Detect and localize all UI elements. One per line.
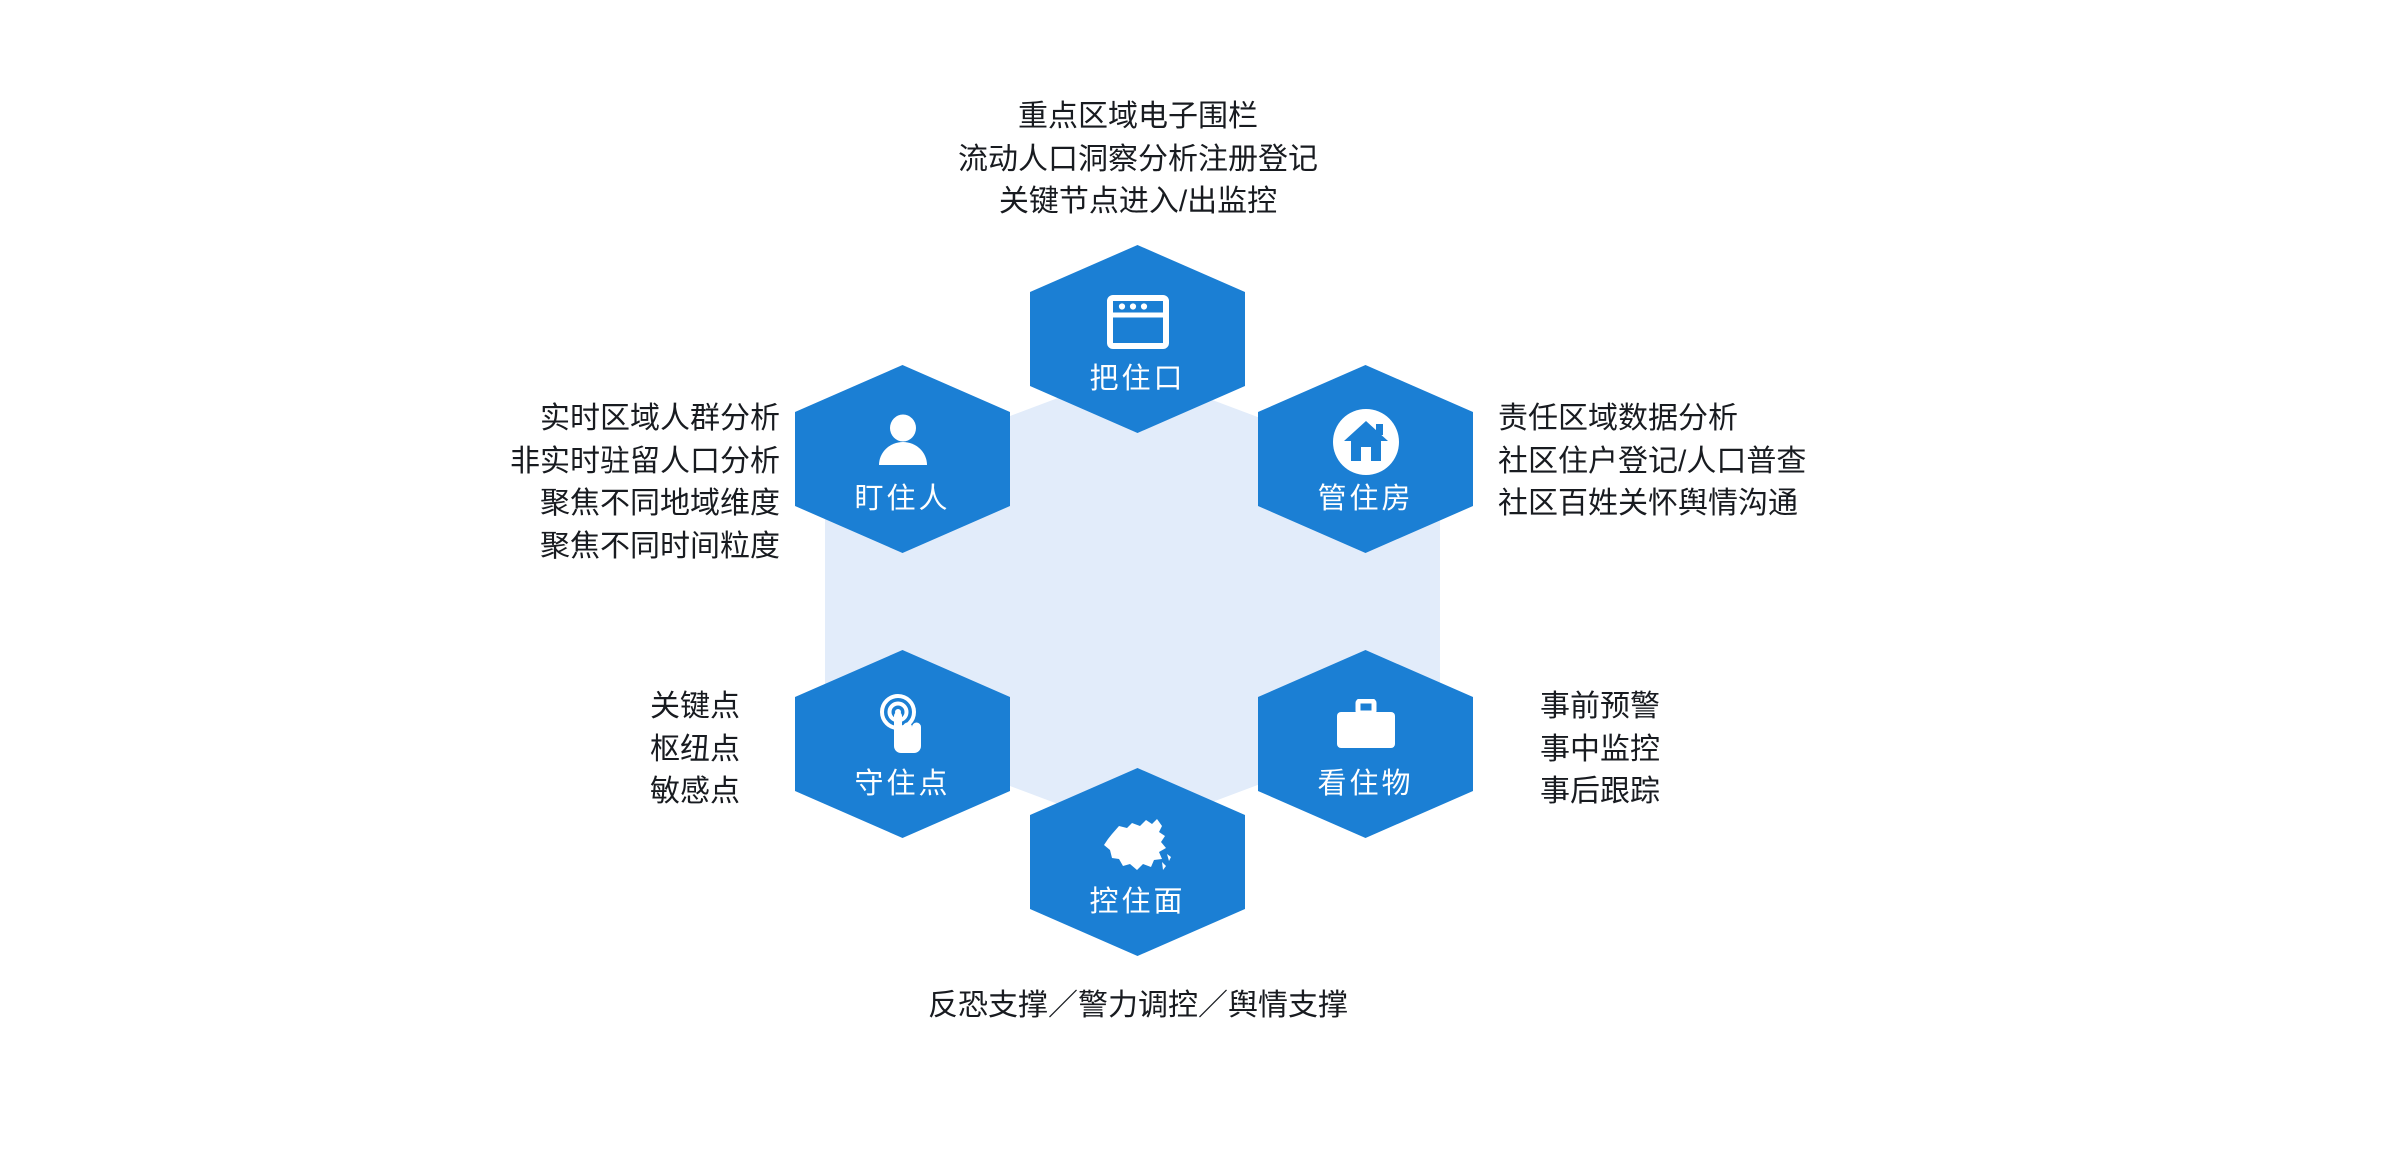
browser-window-icon — [1106, 285, 1170, 359]
hex-node-bottom-label: 控住面 — [1089, 888, 1185, 917]
annotation-left-lower-line-2: 枢纽点 — [440, 729, 740, 772]
person-icon — [874, 405, 932, 479]
annotation-right-lower-line-3: 事后跟踪 — [1540, 771, 1840, 814]
hex-node-top-label: 把住口 — [1089, 365, 1185, 394]
annotation-top-line-2: 流动人口洞察分析注册登记 — [838, 139, 1438, 182]
touch-hand-icon — [872, 690, 934, 764]
annotation-left-upper-line-1: 实时区域人群分析 — [300, 398, 780, 441]
diagram-canvas: 把住口 盯住人 管住房 — [0, 0, 2400, 1172]
annotation-top-line-1: 重点区域电子围栏 — [838, 96, 1438, 139]
annotation-right-upper-line-3: 社区百姓关怀舆情沟通 — [1498, 483, 2058, 526]
annotation-right-upper-line-2: 社区住户登记/人口普查 — [1498, 441, 2058, 484]
annotation-right-upper-line-1: 责任区域数据分析 — [1498, 398, 2058, 441]
annotation-bottom-line-1: 反恐支撑／警力调控／舆情支撑 — [838, 985, 1438, 1028]
annotation-left-upper-line-3: 聚焦不同地域维度 — [300, 483, 780, 526]
annotation-right-lower: 事前预警 事中监控 事后跟踪 — [1540, 686, 1840, 814]
hex-node-lower-right-label: 看住物 — [1317, 770, 1413, 799]
annotation-left-upper: 实时区域人群分析 非实时驻留人口分析 聚焦不同地域维度 聚焦不同时间粒度 — [300, 398, 780, 568]
house-circle-icon — [1331, 405, 1401, 479]
annotation-left-upper-line-4: 聚焦不同时间粒度 — [300, 526, 780, 569]
annotation-right-lower-line-1: 事前预警 — [1540, 686, 1840, 729]
annotation-top-line-3: 关键节点进入/出监控 — [838, 181, 1438, 224]
annotation-right-lower-line-2: 事中监控 — [1540, 729, 1840, 772]
hex-node-lower-left-label: 守住点 — [854, 770, 950, 799]
annotation-left-upper-line-2: 非实时驻留人口分析 — [300, 441, 780, 484]
briefcase-icon — [1333, 690, 1399, 764]
annotation-left-lower-line-1: 关键点 — [440, 686, 740, 729]
annotation-right-upper: 责任区域数据分析 社区住户登记/人口普查 社区百姓关怀舆情沟通 — [1498, 398, 2058, 526]
hex-node-upper-right-label: 管住房 — [1317, 485, 1413, 514]
annotation-top: 重点区域电子围栏 流动人口洞察分析注册登记 关键节点进入/出监控 — [838, 96, 1438, 224]
china-map-icon — [1099, 808, 1177, 882]
annotation-bottom: 反恐支撑／警力调控／舆情支撑 — [838, 985, 1438, 1028]
hex-node-upper-left-label: 盯住人 — [854, 485, 950, 514]
annotation-left-lower: 关键点 枢纽点 敏感点 — [440, 686, 740, 814]
annotation-left-lower-line-3: 敏感点 — [440, 771, 740, 814]
